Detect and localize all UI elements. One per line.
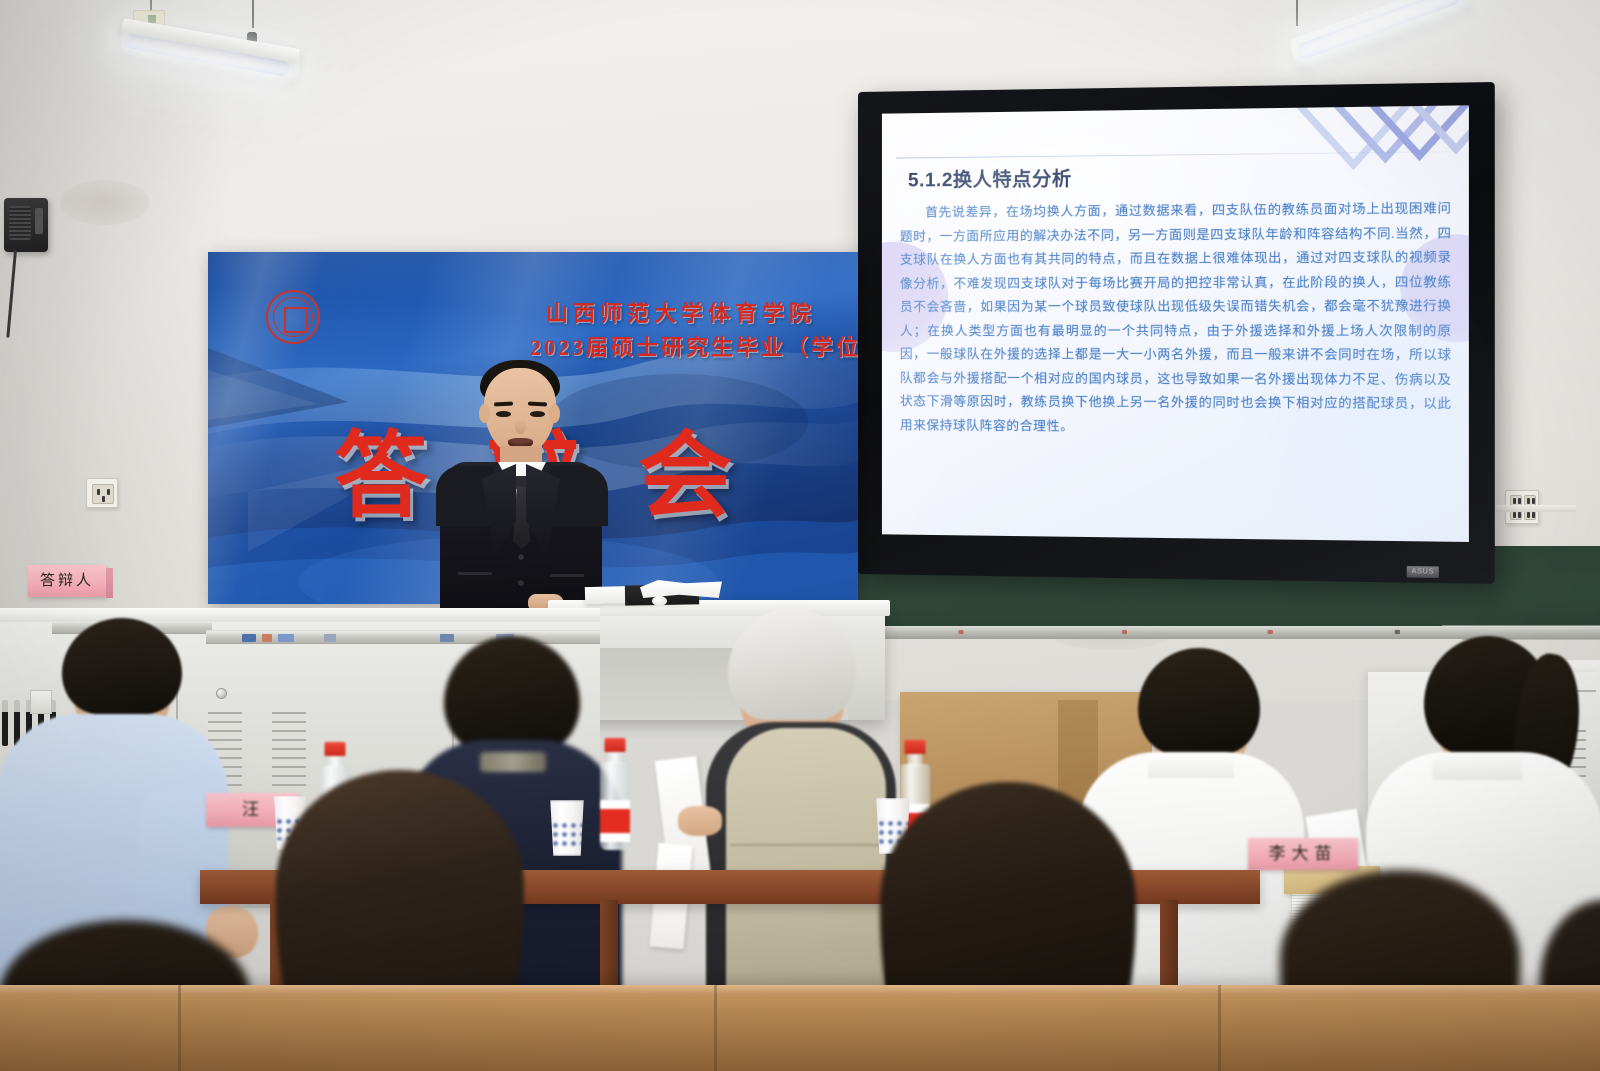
audience-hand [678, 806, 722, 836]
display-brand-logo: ASUS [1407, 566, 1439, 578]
vest-seam [730, 844, 882, 846]
presenter-pocket-left [458, 572, 492, 575]
wall-stain [60, 180, 150, 225]
light-cord [252, 0, 254, 28]
slide-title: 5.1.2换人特点分析 [908, 164, 1072, 193]
outlet-socket [92, 484, 114, 504]
desk-seam [714, 985, 717, 1071]
lectern-microphone-base [652, 596, 667, 606]
cup-pattern [551, 821, 583, 846]
desk-row-front [0, 985, 1600, 1071]
console-drawer-rail[interactable] [206, 630, 406, 644]
paper-cup [548, 800, 586, 856]
presenter-shoulder-right [550, 466, 608, 526]
light-housing [1287, 0, 1473, 73]
presenter-pocket-right [550, 574, 584, 577]
nameplate-presenter: 答辩人 [28, 565, 106, 597]
audience-hair [444, 636, 580, 752]
classroom-scene: 5.1.2换人特点分析 首先说差异，在场均换人方面，通过数据来看，四支队伍的教练… [0, 0, 1600, 1071]
bottle-cap [905, 740, 926, 754]
audience-shirt-collar [1432, 752, 1522, 780]
speaker-grille [9, 206, 31, 240]
presenter-eye-left [496, 411, 511, 417]
presenter-jacket-button [518, 580, 524, 586]
audience-collar-detail [480, 752, 546, 772]
ceiling-light-right [1260, 0, 1600, 90]
water-bottle [598, 738, 632, 850]
slide-body-text: 首先说差异，在场均换人方面，通过数据来看，四支队伍的教练员面对场上出现困难问题时… [900, 197, 1452, 441]
ceiling-light-left [0, 0, 400, 120]
speaker-knob [35, 208, 43, 234]
audience-hair [62, 618, 182, 714]
audience-shirt-collar [1148, 752, 1234, 778]
wall-power-outlet-left[interactable] [86, 478, 118, 508]
presenter-nose [515, 420, 526, 434]
light-cord [1296, 0, 1298, 26]
presenter-ear-right [549, 404, 560, 423]
bottle-label [600, 800, 630, 842]
presentation-slide: 5.1.2换人特点分析 首先说差异，在场均换人方面，通过数据来看，四支队伍的教练… [882, 105, 1469, 542]
presenter-ear-left [479, 404, 490, 423]
audience-hair [1138, 648, 1260, 754]
presenter-jacket-button [518, 554, 524, 560]
presenter-eye-right [530, 411, 545, 417]
banner-institution: 山西师范大学体育学院 [546, 296, 816, 328]
wall-speaker-icon [4, 198, 48, 252]
bottle-cap [325, 742, 346, 756]
desk-seam [178, 985, 181, 1071]
bottle-cap [605, 738, 626, 752]
university-seal-icon [266, 290, 320, 344]
projection-display[interactable]: 5.1.2换人特点分析 首先说差异，在场均换人方面，通过数据来看，四支队伍的教练… [858, 82, 1495, 584]
desk-front-edge [0, 985, 1600, 995]
nameplate-fold [106, 568, 113, 598]
wall-trim [1496, 505, 1576, 512]
audience-hair-white [728, 608, 856, 720]
nameplate-panelist-right: 李大苗 [1248, 838, 1358, 870]
presenter-person [432, 358, 610, 618]
desk-seam [1218, 985, 1221, 1071]
